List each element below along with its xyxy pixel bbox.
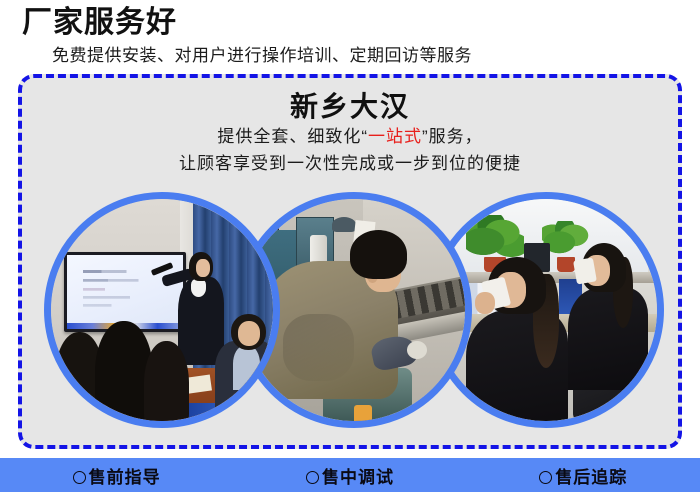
service-stage-after-sales: 售后追踪 xyxy=(467,463,700,488)
scene-plant-pot xyxy=(557,257,575,273)
scene-presenter-face xyxy=(196,259,209,277)
scene-attendee-face xyxy=(238,321,260,345)
photo-circle-training-presentation xyxy=(44,192,280,428)
circle-bullet-icon xyxy=(73,471,86,484)
scene-jacket-shadow xyxy=(283,314,354,381)
service-stage-during-sales: 售中调试 xyxy=(233,463,466,488)
service-stage-pre-sales-label: 售前指导 xyxy=(89,468,161,487)
scene-telephone-handset xyxy=(573,257,597,285)
scene-worker-hair xyxy=(350,230,408,279)
page-subtitle: 免费提供安装、对用户进行操作培训、定期回访等服务 xyxy=(52,44,472,68)
dashed-content-panel: 新乡大汉 提供全套、细致化“一站式”服务， 让顾客享受到一次性完成或一步到位的便… xyxy=(18,74,682,449)
service-stage-after-sales-label: 售后追踪 xyxy=(555,468,627,487)
page-title: 厂家服务好 xyxy=(22,4,177,42)
scene-staff-hand xyxy=(475,292,495,314)
scene-glove-cuff xyxy=(407,341,427,359)
scene-potted-plant xyxy=(466,215,524,259)
scene-staff-body xyxy=(568,288,648,390)
circle-bullet-icon xyxy=(306,471,319,484)
scene-presenter-collar xyxy=(191,279,207,297)
photo-circle-group xyxy=(22,78,686,453)
service-stage-bar: 售前指导 售中调试 售后追踪 xyxy=(0,458,700,492)
service-stage-during-sales-label: 售中调试 xyxy=(322,468,394,487)
service-stage-pre-sales: 售前指导 xyxy=(0,463,233,488)
service-promo-banner: 厂家服务好 免费提供安装、对用户进行操作培训、定期回访等服务 新乡大汉 提供全套… xyxy=(0,0,700,492)
scene-wood-board xyxy=(434,392,465,412)
circle-bullet-icon xyxy=(539,471,552,484)
scene-work-lamp xyxy=(332,217,356,233)
scene-attendee-head xyxy=(144,341,188,421)
photo-training-presentation xyxy=(51,199,273,421)
scene-oil-bottle xyxy=(354,405,372,421)
scene-attendee-shirt xyxy=(233,346,260,390)
